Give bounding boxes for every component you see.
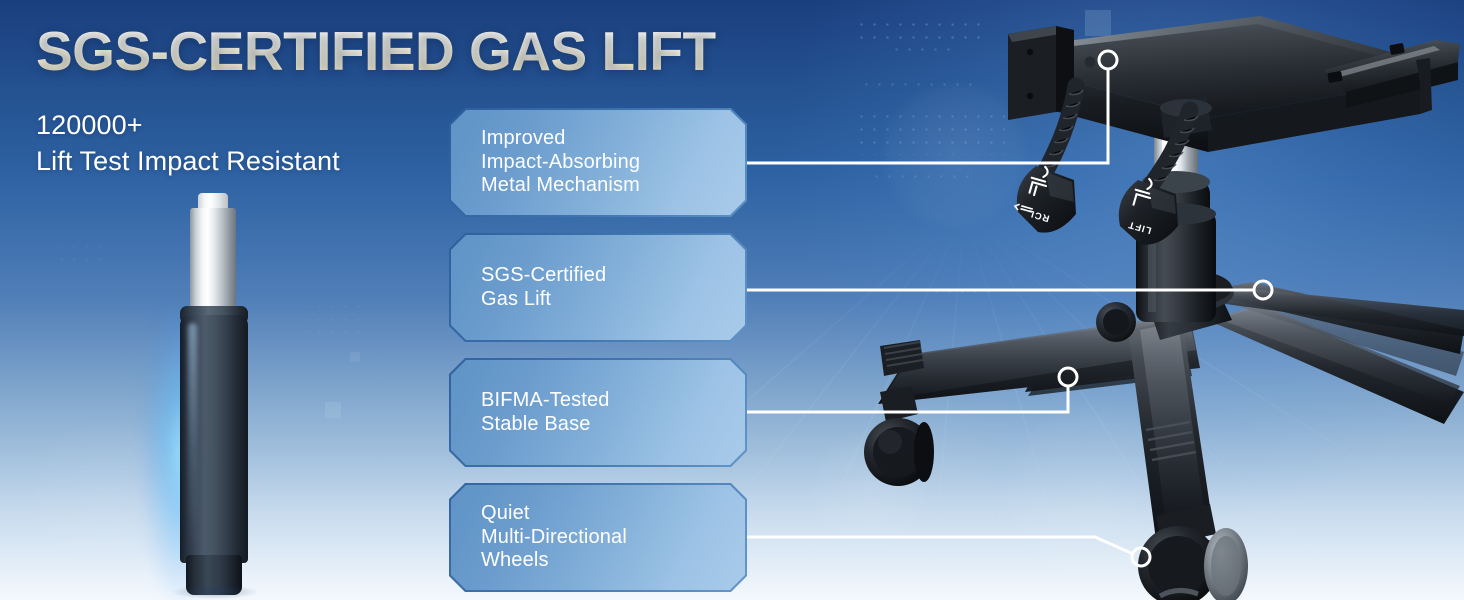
chair-base-assembly: RCL LIFT xyxy=(860,0,1464,600)
callout-quiet-wheels[interactable]: Quiet Multi-Directional Wheels xyxy=(451,485,745,590)
caster-left xyxy=(864,386,934,486)
decor-dot-grid xyxy=(300,300,360,340)
decor-square xyxy=(350,352,360,362)
callout-label: Improved Impact-Absorbing Metal Mechanis… xyxy=(481,127,640,198)
callout-sgs-certified[interactable]: SGS-Certified Gas Lift xyxy=(451,235,745,340)
gas-lift-cylinder xyxy=(150,193,290,600)
callout-bifma-base[interactable]: BIFMA-Tested Stable Base xyxy=(451,360,745,465)
cylinder-chrome-shaft xyxy=(190,208,236,313)
cylinder-shadow xyxy=(172,585,258,599)
caster-back xyxy=(1096,302,1136,342)
page-title: SGS-CERTIFIED GAS LIFT xyxy=(36,23,716,79)
callout-impact-absorbing[interactable]: Improved Impact-Absorbing Metal Mechanis… xyxy=(451,110,745,215)
infographic-canvas: RCL LIFT xyxy=(0,0,1464,600)
decor-dot-grid xyxy=(55,240,105,268)
subtitle-line-1: 120000+ xyxy=(36,108,340,144)
cylinder-highlight xyxy=(188,323,197,551)
page-subtitle: 120000+ Lift Test Impact Resistant xyxy=(36,108,340,179)
subtitle-line-2: Lift Test Impact Resistant xyxy=(36,144,340,180)
callout-label: Quiet Multi-Directional Wheels xyxy=(481,502,627,573)
callout-label: BIFMA-Tested Stable Base xyxy=(481,389,610,436)
callout-label: SGS-Certified Gas Lift xyxy=(481,264,606,311)
decor-square xyxy=(325,402,341,418)
